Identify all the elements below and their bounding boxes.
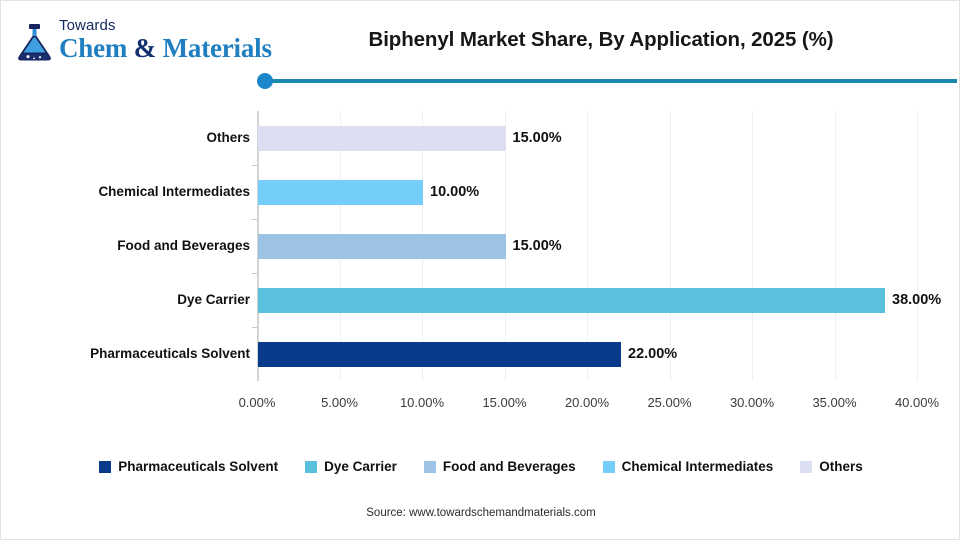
x-axis-tick-label: 10.00%	[400, 395, 444, 410]
chart-legend: Pharmaceuticals SolventDye CarrierFood a…	[1, 459, 960, 474]
legend-label: Pharmaceuticals Solvent	[118, 459, 278, 474]
legend-label: Dye Carrier	[324, 459, 397, 474]
x-axis-tick-label: 15.00%	[482, 395, 526, 410]
legend-swatch-icon	[424, 461, 436, 473]
chart-bar	[258, 234, 506, 259]
axis-tick	[252, 273, 257, 274]
legend-swatch-icon	[305, 461, 317, 473]
bar-value-label: 22.00%	[628, 342, 677, 367]
legend-item[interactable]: Dye Carrier	[305, 459, 397, 474]
legend-swatch-icon	[800, 461, 812, 473]
brand-chem: Chem	[59, 33, 127, 63]
chart-bar	[258, 180, 423, 205]
chart-bar	[258, 342, 621, 367]
legend-label: Others	[819, 459, 863, 474]
brand-name-top: Towards	[59, 18, 272, 33]
axis-tick	[252, 219, 257, 220]
axis-tick	[252, 327, 257, 328]
x-axis-tick-label: 35.00%	[812, 395, 856, 410]
value-axis: 0.00%5.00%10.00%15.00%20.00%25.00%30.00%…	[257, 383, 917, 413]
legend-swatch-icon	[99, 461, 111, 473]
flask-icon	[15, 23, 53, 63]
x-axis-tick-label: 30.00%	[730, 395, 774, 410]
brand-wordmark: Towards Chem & Materials	[59, 18, 272, 63]
header: Towards Chem & Materials Biphenyl Market…	[1, 1, 960, 93]
gridline	[752, 111, 753, 381]
chart-plot: Pharmaceuticals SolventDye CarrierFood a…	[1, 111, 960, 411]
category-label: Dye Carrier	[177, 290, 250, 310]
brand-materials: Materials	[163, 33, 272, 63]
chart-page: Towards Chem & Materials Biphenyl Market…	[0, 0, 960, 540]
bar-value-label: 15.00%	[513, 126, 562, 151]
gridline	[917, 111, 918, 381]
legend-label: Chemical Intermediates	[622, 459, 774, 474]
legend-item[interactable]: Food and Beverages	[424, 459, 576, 474]
gridline	[587, 111, 588, 381]
brand-name-bottom: Chem & Materials	[59, 35, 272, 62]
title-underline	[257, 73, 957, 89]
legend-item[interactable]: Others	[800, 459, 863, 474]
bar-value-label: 38.00%	[892, 288, 941, 313]
gridline	[670, 111, 671, 381]
legend-item[interactable]: Chemical Intermediates	[603, 459, 774, 474]
x-axis-tick-label: 0.00%	[239, 395, 276, 410]
legend-item[interactable]: Pharmaceuticals Solvent	[99, 459, 278, 474]
title-underline-line	[271, 79, 957, 83]
source-caption: Source: www.towardschemandmaterials.com	[1, 507, 960, 519]
category-label: Pharmaceuticals Solvent	[90, 344, 250, 364]
legend-swatch-icon	[603, 461, 615, 473]
title-underline-dot	[257, 73, 273, 89]
page-title: Biphenyl Market Share, By Application, 2…	[301, 28, 901, 52]
axis-tick	[252, 165, 257, 166]
bar-value-label: 15.00%	[513, 234, 562, 259]
x-axis-tick-label: 40.00%	[895, 395, 939, 410]
bar-value-label: 10.00%	[430, 180, 479, 205]
plot-area: 22.00%38.00%15.00%10.00%15.00%	[257, 111, 917, 381]
legend-label: Food and Beverages	[443, 459, 576, 474]
x-axis-tick-label: 20.00%	[565, 395, 609, 410]
brand-ampersand: &	[127, 33, 162, 63]
chart-bar	[258, 126, 506, 151]
category-axis: Pharmaceuticals SolventDye CarrierFood a…	[21, 111, 257, 381]
brand-logo: Towards Chem & Materials	[15, 18, 272, 63]
category-label: Food and Beverages	[117, 236, 250, 256]
x-axis-tick-label: 25.00%	[647, 395, 691, 410]
category-label: Chemical Intermediates	[98, 182, 250, 202]
gridline	[835, 111, 836, 381]
chart-bar	[258, 288, 885, 313]
x-axis-tick-label: 5.00%	[321, 395, 358, 410]
category-label: Others	[206, 128, 250, 148]
